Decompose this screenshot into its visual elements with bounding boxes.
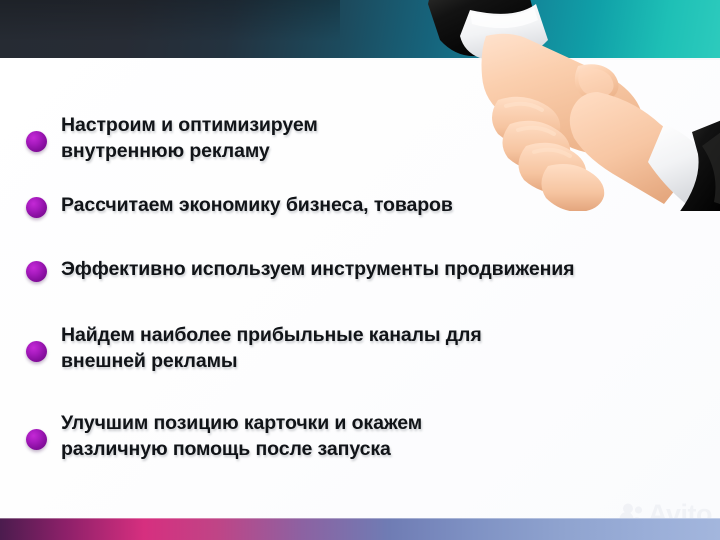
top-banner-shade — [0, 0, 340, 60]
list-item: Эффективно используем инструменты продви… — [26, 256, 574, 282]
bullet-dot-icon — [26, 341, 47, 362]
bottom-bar-hairline — [0, 518, 720, 519]
list-item-label: Эффективно используем инструменты продви… — [61, 256, 574, 282]
list-item: Рассчитаем экономику бизнеса, товаров — [26, 192, 453, 218]
list-item-label: Улучшим позицию карточки и окажем различ… — [61, 410, 422, 462]
list-item: Настроим и оптимизируем внутреннюю рекла… — [26, 112, 318, 164]
list-item-label: Найдем наиболее прибыльные каналы для вн… — [61, 322, 482, 374]
bullet-list: Настроим и оптимизируем внутреннюю рекла… — [0, 58, 720, 518]
bullet-dot-icon — [26, 197, 47, 218]
list-item: Найдем наиболее прибыльные каналы для вн… — [26, 322, 482, 374]
list-item-label: Рассчитаем экономику бизнеса, товаров — [61, 192, 453, 218]
bullet-dot-icon — [26, 261, 47, 282]
list-item-label: Настроим и оптимизируем внутреннюю рекла… — [61, 112, 318, 164]
top-banner — [0, 0, 720, 60]
list-item: Улучшим позицию карточки и окажем различ… — [26, 410, 422, 462]
bullet-dot-icon — [26, 429, 47, 450]
bottom-gradient-bar — [0, 518, 720, 540]
promo-slide: Настроим и оптимизируем внутреннюю рекла… — [0, 0, 720, 540]
bullet-dot-icon — [26, 131, 47, 152]
